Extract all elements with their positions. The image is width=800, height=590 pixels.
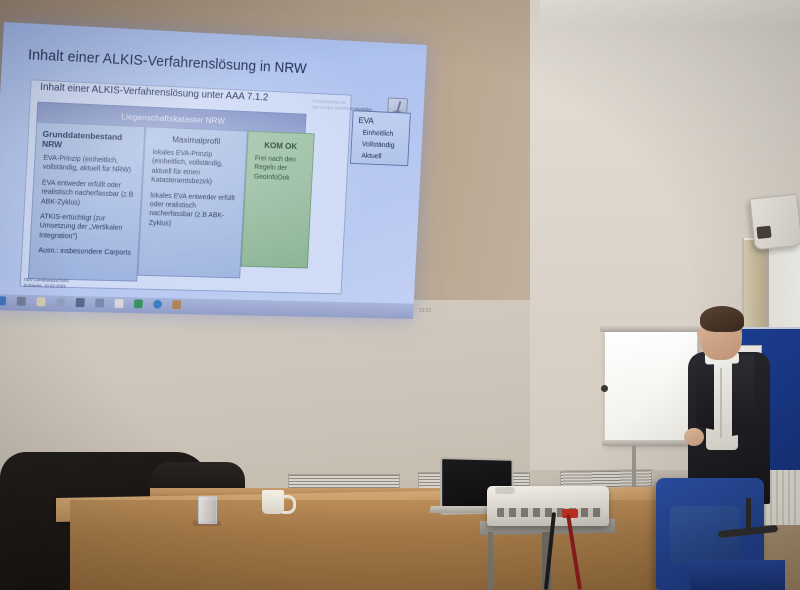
- presenter-hair: [700, 306, 744, 332]
- presentation-slide: Inhalt einer ALKIS-Verfahrenslösung in N…: [0, 22, 427, 319]
- settings-icon[interactable]: [56, 298, 65, 307]
- column-heading: Grunddatenbestand NRW: [42, 129, 138, 153]
- chair-blue-seat: [690, 560, 785, 590]
- column-item: ATKIS-ertüchtigt (zur Umsetzung der „Ver…: [39, 211, 134, 242]
- column-item: lokales EVA entweder erfüllt oder realis…: [149, 190, 238, 230]
- eva-box: EVA Einheitlich Vollständig Aktuell: [350, 110, 411, 166]
- powerpoint-icon[interactable]: [76, 298, 85, 307]
- folder-icon[interactable]: [172, 300, 181, 309]
- flipchart-clip: [601, 385, 608, 392]
- edge-icon[interactable]: [153, 300, 162, 309]
- task-view-icon[interactable]: [17, 297, 26, 306]
- presenter-nose: [697, 330, 705, 338]
- column-kom-ok: KOM OK Frei nach den Regeln der GeoInfoD…: [241, 131, 315, 269]
- slide-title: Inhalt einer ALKIS-Verfahrenslösung in N…: [28, 47, 397, 81]
- excel-icon[interactable]: [134, 299, 143, 308]
- column-heading: KOM OK: [253, 140, 307, 152]
- calculator-icon[interactable]: [114, 299, 123, 308]
- projector-ports: [497, 508, 601, 517]
- projector-cart-leg: [488, 532, 493, 590]
- presenter-lapel-right: [732, 354, 754, 436]
- taskbar-icon-list: [0, 296, 181, 309]
- column-heading: Maximalprofil: [151, 133, 241, 146]
- column-maximalprofil: Maximalprofil lokales EVA-Prinzip (einhe…: [137, 126, 247, 278]
- slide-footer: VDV Landesausschuss Schwerte, 10.02.2023: [23, 277, 68, 290]
- eva-item: Einheitlich: [362, 128, 409, 139]
- column-grunddatenbestand: Grunddatenbestand NRW EVA-Prinzip (einhe…: [28, 122, 145, 282]
- flipchart-paper: [604, 330, 698, 444]
- column-item: Frei nach den Regeln der GeoInfoDok: [254, 153, 308, 182]
- coffee-mug: [262, 490, 284, 514]
- column-item: EVA entweder erfüllt oder realistisch na…: [41, 177, 136, 208]
- eva-title: EVA: [358, 115, 409, 127]
- presenter-hand: [684, 428, 704, 446]
- column-item: Ausn.: insbesondere Carports: [38, 246, 132, 258]
- water-glass: [198, 496, 217, 524]
- ceiling-edge: [540, 0, 800, 26]
- projector-osd-label: 15:32: [409, 308, 441, 324]
- projector-lens: [495, 487, 515, 494]
- column-item: lokales EVA-Prinzip (einheitlich, vollst…: [151, 147, 240, 187]
- projection-screen: Inhalt einer ALKIS-Verfahrenslösung in N…: [0, 22, 427, 319]
- flipchart-bottom-bar: [602, 440, 698, 446]
- slide-columns: Grunddatenbestand NRW EVA-Prinzip (einhe…: [28, 122, 337, 285]
- wall-speaker-icon: [749, 194, 800, 251]
- chair-wheel-base: [718, 498, 778, 558]
- slide-footer-line2: Schwerte, 10.02.2023: [23, 283, 68, 290]
- eva-item: Aktuell: [361, 151, 408, 161]
- eva-item: Vollständig: [362, 139, 409, 150]
- presenter-lapel-left: [696, 354, 714, 430]
- windows-start-icon[interactable]: [0, 296, 6, 305]
- file-explorer-icon[interactable]: [36, 297, 45, 306]
- coffee-mug-handle: [282, 495, 296, 514]
- flipchart-top-bar: [600, 325, 700, 332]
- conference-room-scene: Inhalt einer ALKIS-Verfahrenslösung in N…: [0, 0, 800, 590]
- column-item: EVA-Prinzip (einheitlich, vollständig, a…: [43, 153, 137, 175]
- outlook-icon[interactable]: [95, 298, 104, 307]
